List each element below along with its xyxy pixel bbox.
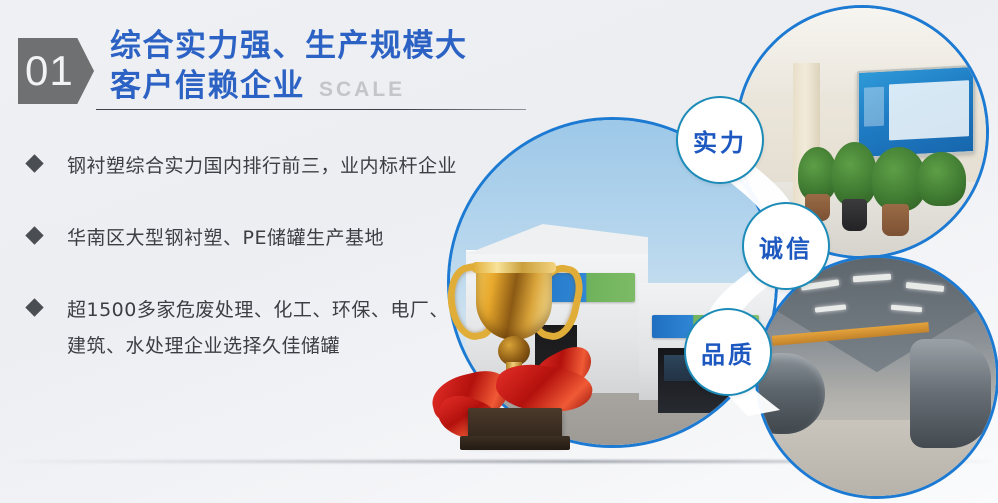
feature-list: 钢衬塑综合实力国内排行前三，业内标杆企业 华南区大型钢衬塑、PE储罐生产基地 超… [20, 148, 490, 400]
list-item: 超1500多家危废处理、化工、环保、电厂、建筑、水处理企业选择久佳储罐 [20, 292, 490, 364]
badge-quality-label: 品质 [701, 335, 755, 370]
diamond-bullet-icon [25, 226, 43, 244]
list-item-text: 华南区大型钢衬塑、PE储罐生产基地 [67, 220, 384, 256]
culture-display-board [857, 64, 975, 159]
badge-strength-label: 实力 [693, 123, 747, 158]
list-item-text: 超1500多家危废处理、化工、环保、电厂、建筑、水处理企业选择久佳储罐 [67, 292, 467, 364]
trophy-cup [476, 266, 552, 340]
plant-pot [882, 204, 909, 236]
section-number-badge: 01 [18, 38, 94, 104]
page-title: 综合实力强、生产规模大 客户信赖企业 SCALE [110, 26, 540, 110]
plant-pot [842, 199, 867, 231]
trophy-rim [472, 262, 556, 273]
list-item: 钢衬塑综合实力国内排行前三，业内标杆企业 [20, 148, 490, 184]
potted-plant-icon [917, 152, 967, 207]
diamond-bullet-icon [25, 298, 43, 316]
award-trophy [424, 248, 604, 460]
badge-integrity-label: 诚信 [759, 229, 813, 264]
title-line-2: 客户信赖企业 [110, 66, 305, 106]
title-line-1: 综合实力强、生产规模大 [110, 26, 540, 66]
trophy-base-plinth [460, 436, 570, 450]
workshop-tanks-photo [758, 258, 996, 496]
storage-tank [910, 339, 991, 448]
badge-quality[interactable]: 品质 [686, 310, 770, 394]
title-subtitle-en: SCALE [319, 70, 405, 110]
badge-integrity[interactable]: 诚信 [744, 204, 828, 288]
header-block: 01 综合实力强、生产规模大 客户信赖企业 SCALE [0, 0, 560, 140]
list-item-text: 钢衬塑综合实力国内排行前三，业内标杆企业 [67, 148, 457, 184]
potted-plant-icon [832, 142, 877, 206]
header-divider [96, 109, 526, 110]
diamond-bullet-icon [25, 154, 43, 172]
section-number-text: 01 [18, 38, 94, 104]
badge-strength[interactable]: 实力 [678, 98, 762, 182]
list-item: 华南区大型钢衬塑、PE储罐生产基地 [20, 220, 490, 256]
promo-banner: 01 综合实力强、生产规模大 客户信赖企业 SCALE 钢衬塑综合实力国内排行前… [0, 0, 998, 503]
